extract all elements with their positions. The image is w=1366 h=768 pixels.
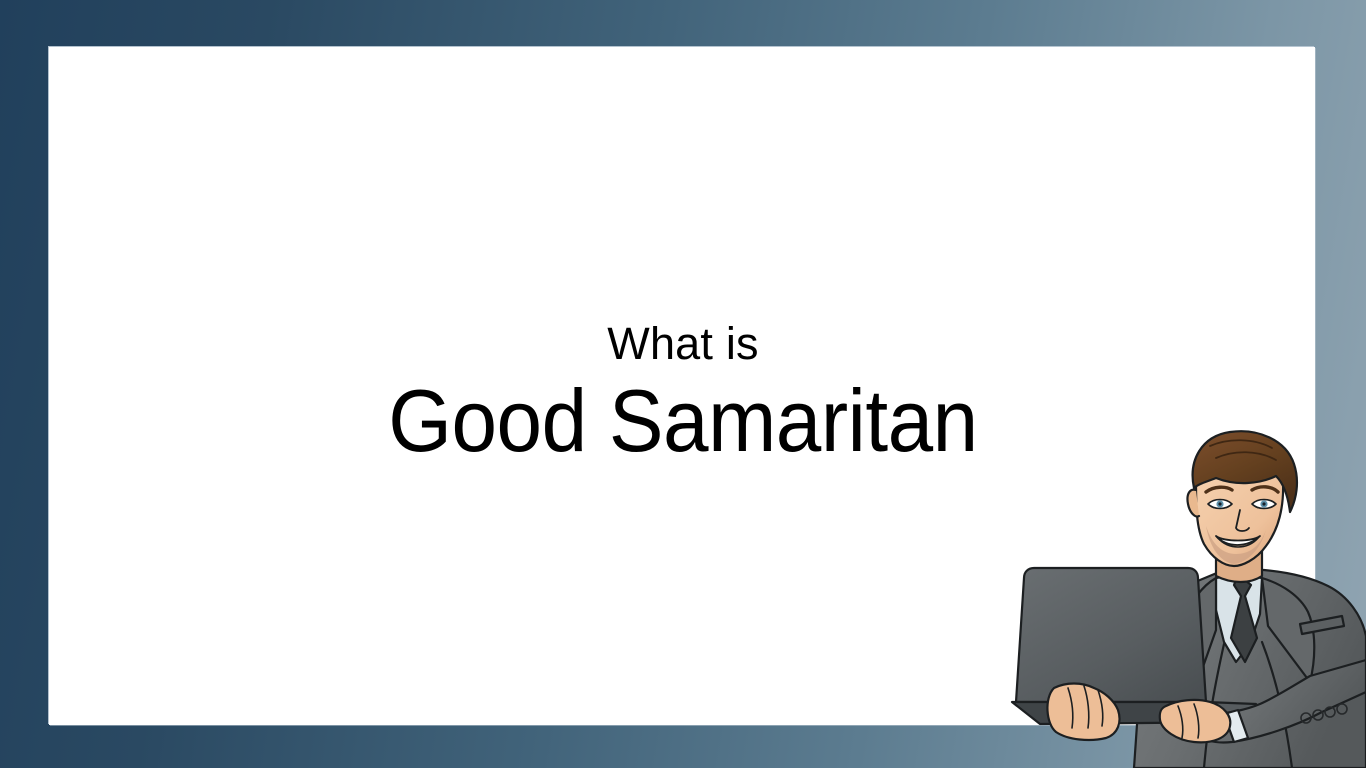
eye-right (1252, 500, 1276, 509)
eye-left (1208, 500, 1232, 509)
illustration-body (1012, 431, 1366, 768)
businessman-with-laptop-illustration (1010, 430, 1366, 768)
presentation-slide: What is Good Samaritan (0, 0, 1366, 768)
laptop-lid (1016, 568, 1206, 702)
